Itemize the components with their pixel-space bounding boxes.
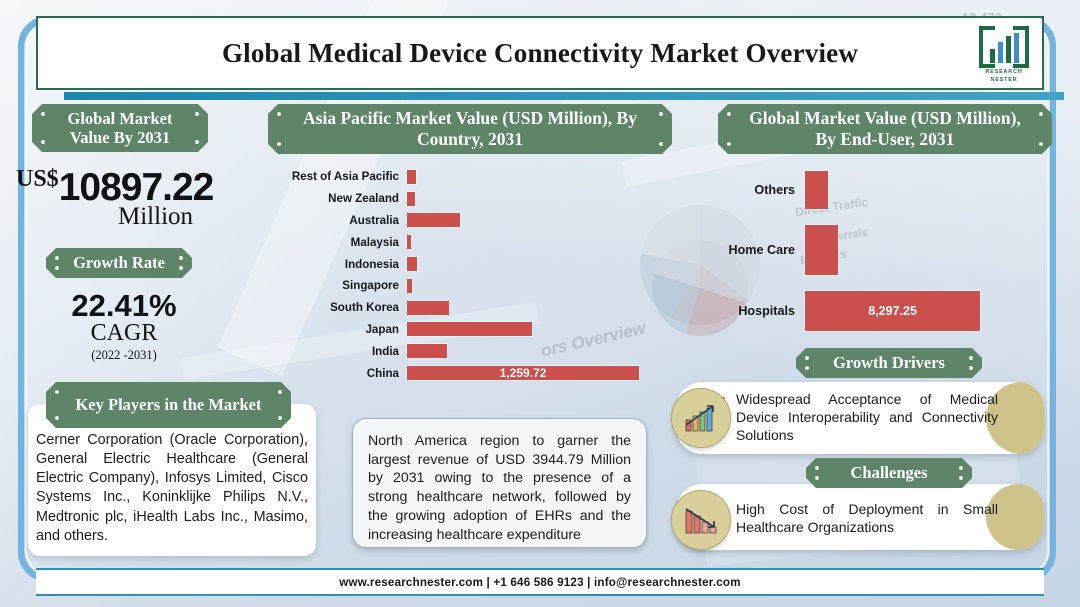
chart-data-label: 8,297.25 (805, 291, 980, 331)
chart-category-label: China (270, 367, 407, 380)
growth-drivers-item-text: Widespread Acceptance of Medical Device … (736, 391, 998, 443)
asia-pacific-chart-plaque: Asia Pacific Market Value (USD Million),… (268, 104, 672, 154)
end-user-chart-plaque: Global Market Value (USD Million), By En… (718, 104, 1052, 154)
chart-bar: 8,297.25 (805, 291, 980, 331)
chart-bar-row: Australia (270, 210, 670, 232)
chart-data-label: 1,259.72 (407, 366, 639, 380)
growth-drivers-label: Growth Drivers (833, 353, 945, 372)
chart-bar (407, 344, 447, 358)
growth-drivers-item: • Widespread Acceptance of Medical Devic… (736, 390, 998, 445)
chart-bar-row: Rest of Asia Pacific (270, 166, 670, 188)
challenges-label: Challenges (850, 463, 927, 482)
chart-category-label: Japan (270, 323, 407, 336)
growth-rate-label: Growth Rate (73, 253, 165, 272)
challenges-plaque: Challenges (806, 458, 972, 488)
chart-bar (407, 279, 412, 293)
growth-drivers-plaque: Growth Drivers (796, 348, 982, 378)
chart-category-label: Others (700, 183, 805, 197)
key-players-plaque: Key Players in the Market (46, 382, 291, 428)
cagr-value: 22.41% (44, 288, 204, 324)
logo-icon (979, 26, 1029, 68)
logo-text: RESEARCH NESTER (985, 69, 1022, 84)
challenges-item-text: High Cost of Deployment in Small Healthc… (736, 501, 998, 535)
chart-category-label: Hospitals (700, 304, 805, 318)
chart-bar (407, 213, 460, 227)
chart-bar-row: South Korea (270, 297, 670, 319)
chart-category-label: Indonesia (270, 258, 407, 271)
end-user-bar-chart: OthersHome CareHospitals8,297.25 (700, 166, 1040, 336)
end-user-chart-title: Global Market Value (USD Million), By En… (740, 108, 1030, 149)
chart-category-label: Malaysia (270, 236, 407, 249)
chart-bar (407, 322, 532, 336)
chart-bar-row: Hospitals8,297.25 (700, 286, 1040, 336)
chart-bar (407, 301, 449, 315)
asia-pacific-chart-title: Asia Pacific Market Value (USD Million),… (290, 108, 650, 149)
cagr-metric-label: CAGR (44, 320, 204, 347)
chart-bar-row: Others (700, 166, 1040, 214)
chart-bar (407, 192, 415, 206)
chart-category-label: Home Care (700, 243, 805, 257)
footer-text: www.researchnester.com | +1 646 586 9123… (339, 576, 740, 589)
chart-bar-row: New Zealand (270, 188, 670, 210)
cagr-period: (2022 -2031) (44, 348, 204, 363)
currency-symbol: US$ (16, 166, 59, 192)
chart-bar (407, 235, 411, 249)
global-market-value-label: Global Market Value By 2031 (54, 109, 186, 148)
chart-bar (407, 170, 416, 184)
chart-category-label: Singapore (270, 279, 407, 292)
north-america-note: North America region to garner the large… (352, 418, 647, 548)
challenges-item: • High Cost of Deployment in Small Healt… (736, 500, 998, 536)
chart-category-label: South Korea (270, 301, 407, 314)
chart-category-label: New Zealand (270, 192, 407, 205)
growth-rate-plaque: Growth Rate (46, 248, 192, 278)
infographic-canvas: Data Sources ors Overview Direct Traffic… (0, 0, 1080, 607)
chart-bar-row: India (270, 340, 670, 362)
chart-bar-row: Home Care (700, 220, 1040, 280)
declining-chart-down-icon (671, 490, 731, 550)
research-nester-logo: RESEARCH NESTER (972, 23, 1036, 87)
chart-bar-row: Singapore (270, 275, 670, 297)
page-title: Global Medical Device Connectivity Marke… (222, 38, 858, 69)
chart-category-label: India (270, 345, 407, 358)
asia-pacific-bar-chart: Rest of Asia PacificNew ZealandAustralia… (270, 166, 670, 384)
chart-bar (805, 171, 828, 209)
chart-bar-row: Japan (270, 319, 670, 341)
market-value-unit: Million (118, 203, 193, 231)
chart-bar-row: Indonesia (270, 253, 670, 275)
chart-bar-row: China1,259.72 (270, 362, 670, 384)
header-title-bar: Global Medical Device Connectivity Marke… (36, 16, 1044, 90)
key-players-text: Cerner Corporation (Oracle Corporation),… (36, 431, 308, 546)
footer-contact-bar: www.researchnester.com | +1 646 586 9123… (36, 568, 1044, 596)
chart-category-label: Rest of Asia Pacific (270, 170, 407, 183)
growth-chart-up-icon (671, 388, 731, 448)
chart-category-label: Australia (270, 214, 407, 227)
chart-bar (407, 257, 417, 271)
key-players-label: Key Players in the Market (75, 395, 261, 414)
chart-bar: 1,259.72 (407, 366, 639, 380)
chart-bar-row: Malaysia (270, 231, 670, 253)
chart-bar (805, 225, 838, 275)
global-market-value-plaque: Global Market Value By 2031 (32, 104, 208, 152)
